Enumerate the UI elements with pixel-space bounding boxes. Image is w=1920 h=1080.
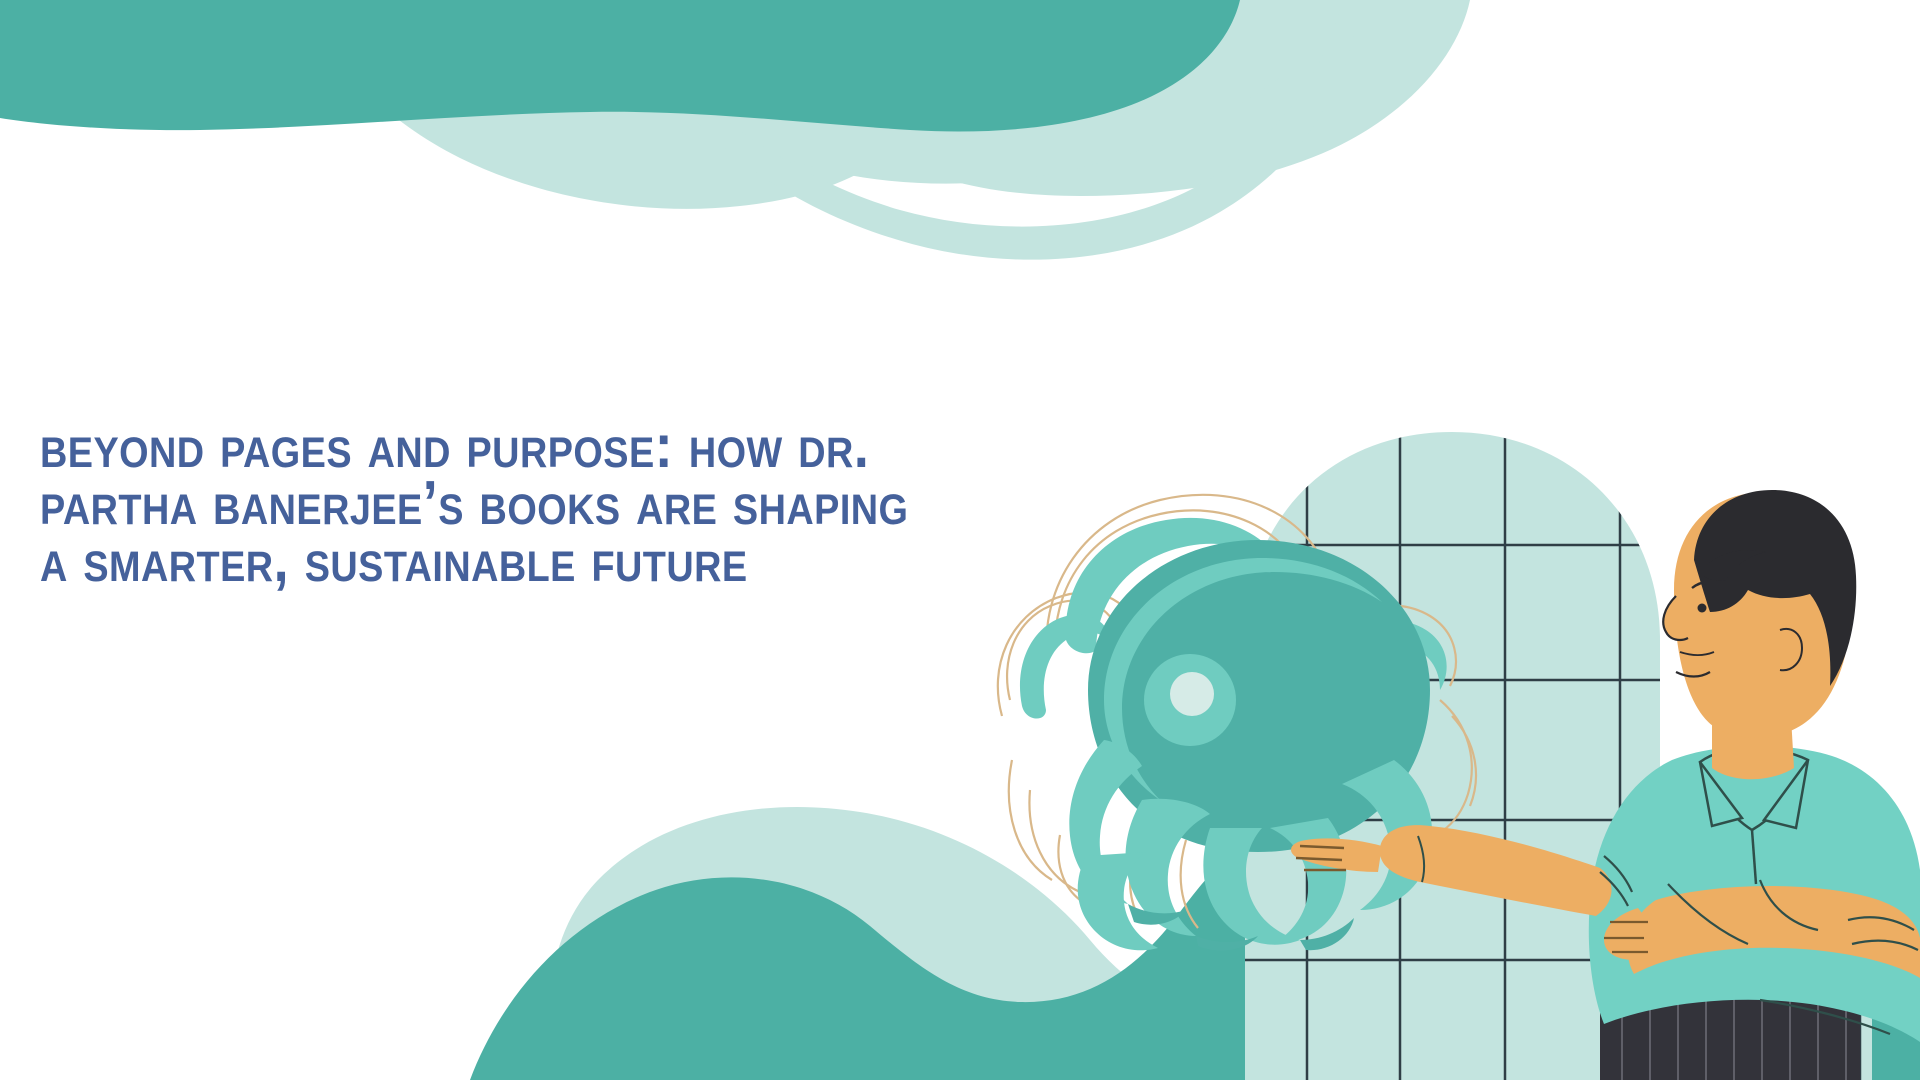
octopus-eye-inner [1170,672,1214,716]
title-block: Beyond Pages and Purpose: How Dr. Partha… [40,418,1050,589]
person-eye [1698,604,1707,613]
slide-canvas: Beyond Pages and Purpose: How Dr. Partha… [0,0,1920,1080]
page-title: Beyond Pages and Purpose: How Dr. Partha… [40,418,929,589]
